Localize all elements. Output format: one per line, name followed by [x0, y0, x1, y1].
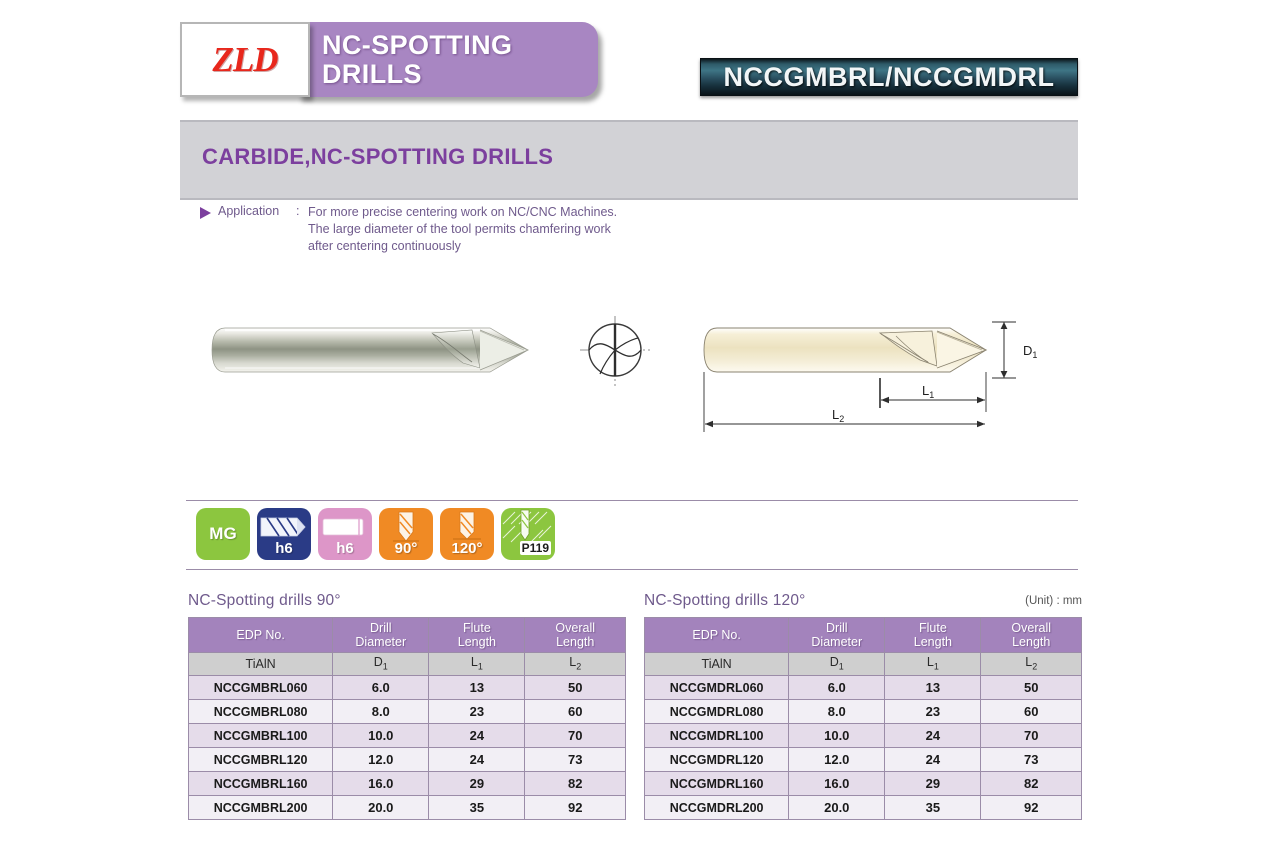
cell-flute-length: 13: [429, 676, 525, 700]
triangle-bullet-icon: [200, 207, 211, 219]
cell-drill-diameter: 12.0: [789, 748, 885, 772]
spec-icon-strip: MG h6 h6 90°: [196, 508, 555, 560]
table-row: NCCGMBRL12012.02473: [189, 748, 626, 772]
cell-drill-diameter: 8.0: [789, 700, 885, 724]
table-subheader-row: TiAlN D1 L1 L2: [189, 653, 626, 676]
cell-flute-length: 24: [885, 748, 981, 772]
header-edp-line1: EDP No.: [645, 628, 788, 642]
table-row: NCCGMBRL0808.02360: [189, 700, 626, 724]
h6-flute-badge: h6: [257, 508, 311, 560]
cell-edp-no: NCCGMDRL120: [645, 748, 789, 772]
header-fl-line2: Length: [429, 635, 524, 649]
header-drill-diameter: Drill Diameter: [789, 618, 885, 653]
cell-drill-diameter: 20.0: [333, 796, 429, 820]
table-subheader-row: TiAlN D1 L1 L2: [645, 653, 1082, 676]
cell-flute-length: 29: [885, 772, 981, 796]
table-row: NCCGMDRL20020.03592: [645, 796, 1082, 820]
dimension-label-l1: L1: [922, 383, 934, 400]
h6-shank-badge-label: h6: [318, 540, 372, 557]
header-banner: NC-SPOTTING DRILLS ZLD: [180, 22, 598, 97]
dimension-label-d1: D1: [1023, 343, 1037, 360]
cross-section-diagram: [580, 316, 650, 386]
cell-overall-length: 70: [981, 724, 1082, 748]
dimension-drawing: D1 L1 L2: [704, 322, 1037, 432]
dimension-label-l2: L2: [832, 407, 844, 424]
cell-edp-no: NCCGMDRL160: [645, 772, 789, 796]
spec-table-120-title: NC-Spotting drills 120°: [644, 592, 1082, 610]
spec-table-120: EDP No. Drill Diameter Flute Length Over…: [644, 617, 1082, 820]
header-overall-length: Overall Length: [525, 618, 626, 653]
angle-120-badge: 120°: [440, 508, 494, 560]
angle-90-badge-label: 90°: [379, 540, 433, 557]
spec-table-120-wrapper: NC-Spotting drills 120° (Unit) : mm EDP …: [644, 592, 1082, 820]
subheader-l2: L2: [981, 653, 1082, 676]
cell-drill-diameter: 20.0: [789, 796, 885, 820]
header-overall-length: Overall Length: [981, 618, 1082, 653]
header-flute-length: Flute Length: [885, 618, 981, 653]
cell-overall-length: 82: [525, 772, 626, 796]
table-row: NCCGMDRL0606.01350: [645, 676, 1082, 700]
spec-table-90-title: NC-Spotting drills 90°: [188, 592, 626, 610]
table-row: NCCGMDRL0808.02360: [645, 700, 1082, 724]
cell-edp-no: NCCGMDRL100: [645, 724, 789, 748]
product-code-badge: NCCGMBRL/NCCGMDRL: [700, 58, 1078, 96]
h6-flute-badge-label: h6: [257, 540, 311, 557]
cell-edp-no: NCCGMBRL100: [189, 724, 333, 748]
product-title-plate: NC-SPOTTING DRILLS: [298, 22, 598, 97]
logo-text: ZLD: [212, 40, 277, 80]
header-ol-line1: Overall: [981, 621, 1081, 635]
cell-flute-length: 35: [429, 796, 525, 820]
cell-overall-length: 50: [525, 676, 626, 700]
header-dd-line1: Drill: [333, 621, 428, 635]
application-line-2: The large diameter of the tool permits c…: [308, 221, 617, 238]
spec-table-90: EDP No. Drill Diameter Flute Length Over…: [188, 617, 626, 820]
cell-overall-length: 73: [525, 748, 626, 772]
cell-edp-no: NCCGMBRL160: [189, 772, 333, 796]
cell-drill-diameter: 6.0: [789, 676, 885, 700]
cell-overall-length: 60: [525, 700, 626, 724]
page-title: CARBIDE,NC-SPOTTING DRILLS: [202, 144, 553, 170]
header-edp-line1: EDP No.: [189, 628, 332, 642]
subheader-coating: TiAlN: [189, 653, 333, 676]
subheader-l1: L1: [885, 653, 981, 676]
cell-flute-length: 35: [885, 796, 981, 820]
cell-flute-length: 29: [429, 772, 525, 796]
cell-overall-length: 73: [981, 748, 1082, 772]
brand-logo: ZLD: [180, 22, 310, 97]
table-row: NCCGMDRL16016.02982: [645, 772, 1082, 796]
header-dd-line1: Drill: [789, 621, 884, 635]
table-row: NCCGMBRL10010.02470: [189, 724, 626, 748]
cell-flute-length: 24: [429, 748, 525, 772]
cell-drill-diameter: 12.0: [333, 748, 429, 772]
header-edp: EDP No.: [189, 618, 333, 653]
cell-drill-diameter: 10.0: [789, 724, 885, 748]
catalog-page: NC-SPOTTING DRILLS ZLD NCCGMBRL/NCCGMDRL…: [0, 0, 1269, 861]
table-row: NCCGMBRL20020.03592: [189, 796, 626, 820]
cell-overall-length: 50: [981, 676, 1082, 700]
header-fl-line2: Length: [885, 635, 980, 649]
application-label: Application: [218, 204, 296, 218]
application-colon: :: [296, 204, 308, 218]
subtitle-band: CARBIDE,NC-SPOTTING DRILLS: [180, 120, 1078, 200]
cell-flute-length: 13: [885, 676, 981, 700]
cell-overall-length: 70: [525, 724, 626, 748]
angle-120-badge-label: 120°: [440, 540, 494, 557]
cell-edp-no: NCCGMBRL060: [189, 676, 333, 700]
cell-drill-diameter: 10.0: [333, 724, 429, 748]
table-header-row: EDP No. Drill Diameter Flute Length Over…: [645, 618, 1082, 653]
p119-badge-label: P119: [520, 541, 551, 555]
drill-photo-illustration: [212, 328, 528, 372]
table-row: NCCGMDRL12012.02473: [645, 748, 1082, 772]
cell-flute-length: 23: [885, 700, 981, 724]
h6-shank-badge: h6: [318, 508, 372, 560]
cell-overall-length: 82: [981, 772, 1082, 796]
product-code-text: NCCGMBRL/NCCGMDRL: [724, 62, 1055, 93]
product-illustrations: D1 L1 L2: [180, 300, 1078, 480]
product-title-line-2: DRILLS: [322, 60, 598, 89]
spec-table-120-body: NCCGMDRL0606.01350NCCGMDRL0808.02360NCCG…: [645, 676, 1082, 820]
subheader-d1: D1: [789, 653, 885, 676]
p119-badge: P119: [501, 508, 555, 560]
spec-table-90-wrapper: NC-Spotting drills 90° EDP No. Drill Dia…: [188, 592, 626, 820]
subheader-d1: D1: [333, 653, 429, 676]
cell-edp-no: NCCGMDRL080: [645, 700, 789, 724]
cell-overall-length: 60: [981, 700, 1082, 724]
header-ol-line1: Overall: [525, 621, 625, 635]
application-line-3: after centering continuously: [308, 238, 617, 255]
cell-drill-diameter: 6.0: [333, 676, 429, 700]
cell-overall-length: 92: [981, 796, 1082, 820]
header-flute-length: Flute Length: [429, 618, 525, 653]
header-fl-line1: Flute: [429, 621, 524, 635]
header-fl-line1: Flute: [885, 621, 980, 635]
cell-drill-diameter: 8.0: [333, 700, 429, 724]
cell-edp-no: NCCGMDRL200: [645, 796, 789, 820]
spec-table-90-body: NCCGMBRL0606.01350NCCGMBRL0808.02360NCCG…: [189, 676, 626, 820]
table-row: NCCGMBRL0606.01350: [189, 676, 626, 700]
table-row: NCCGMBRL16016.02982: [189, 772, 626, 796]
subheader-l2: L2: [525, 653, 626, 676]
cell-flute-length: 24: [885, 724, 981, 748]
subheader-coating: TiAlN: [645, 653, 789, 676]
header-dd-line2: Diameter: [333, 635, 428, 649]
cell-flute-length: 24: [429, 724, 525, 748]
cell-drill-diameter: 16.0: [333, 772, 429, 796]
angle-90-badge: 90°: [379, 508, 433, 560]
divider-bottom: [186, 569, 1078, 570]
header-edp: EDP No.: [645, 618, 789, 653]
mg-badge: MG: [196, 508, 250, 560]
cell-overall-length: 92: [525, 796, 626, 820]
table-row: NCCGMDRL10010.02470: [645, 724, 1082, 748]
header-ol-line2: Length: [981, 635, 1081, 649]
application-text: For more precise centering work on NC/CN…: [308, 204, 617, 255]
cell-edp-no: NCCGMDRL060: [645, 676, 789, 700]
cell-edp-no: NCCGMBRL120: [189, 748, 333, 772]
mg-badge-label: MG: [209, 524, 236, 544]
cell-edp-no: NCCGMBRL080: [189, 700, 333, 724]
subheader-l1: L1: [429, 653, 525, 676]
header-ol-line2: Length: [525, 635, 625, 649]
cell-drill-diameter: 16.0: [789, 772, 885, 796]
application-line-1: For more precise centering work on NC/CN…: [308, 204, 617, 221]
divider-top: [186, 500, 1078, 501]
unit-note: (Unit) : mm: [1025, 595, 1082, 607]
cell-flute-length: 23: [429, 700, 525, 724]
header-drill-diameter: Drill Diameter: [333, 618, 429, 653]
illustration-svg: D1 L1 L2: [180, 300, 1078, 480]
table-header-row: EDP No. Drill Diameter Flute Length Over…: [189, 618, 626, 653]
product-title-line-1: NC-SPOTTING: [322, 31, 598, 60]
application-block: Application : For more precise centering…: [200, 204, 720, 255]
header-dd-line2: Diameter: [789, 635, 884, 649]
cell-edp-no: NCCGMBRL200: [189, 796, 333, 820]
